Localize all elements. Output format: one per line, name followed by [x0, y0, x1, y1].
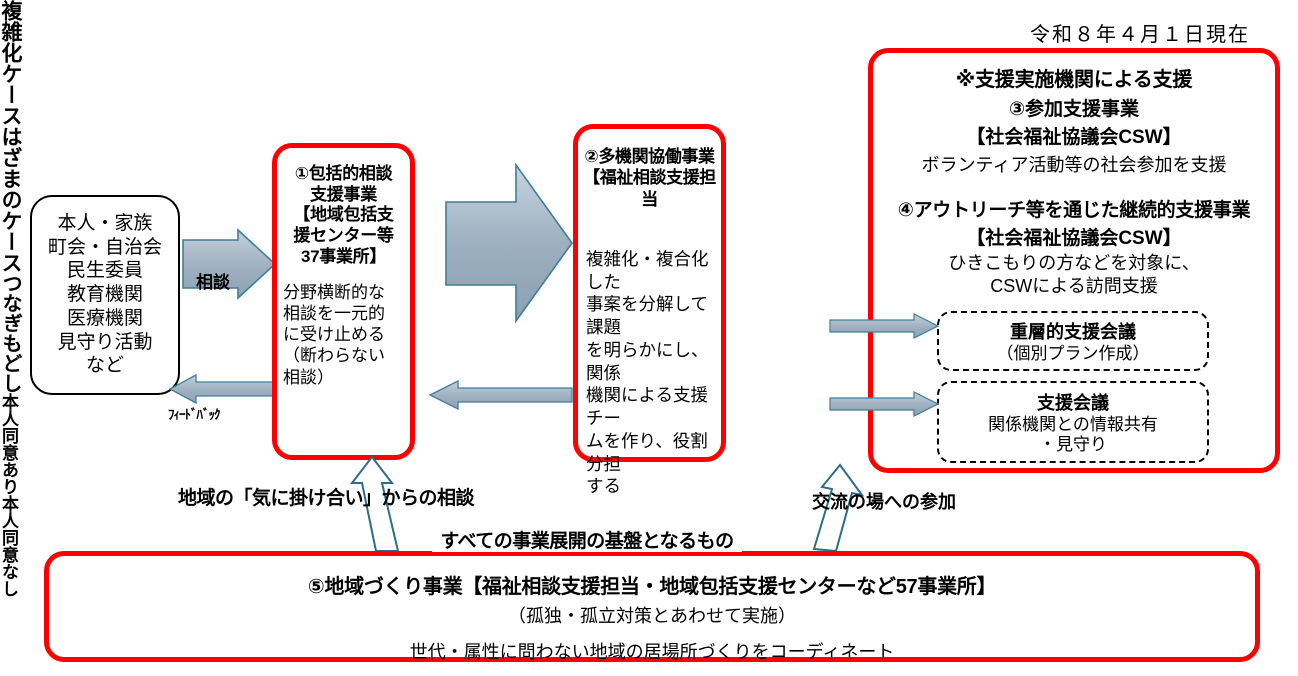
box3-item4-org: 【社会福祉協議会CSW】: [873, 223, 1275, 250]
exchange-participation-label: 交流の場への参加: [812, 488, 956, 514]
box-multi-agency-collaboration: ②多機関協働事業 【福祉相談支援担当 複雑化・複合化した 事案を分解して課題 を…: [573, 124, 726, 462]
box5-title: ⑤地域づくり事業【福祉相談支援担当・地域包括支援センターなど57事業所】: [49, 570, 1255, 599]
feedback-arrow: [168, 372, 276, 408]
date-note: 令和８年４月１日現在: [1000, 18, 1250, 47]
consent-no-arrow: [828, 390, 940, 418]
source-box: 本人・家族 町会・自治会 民生委員 教育機関 医療機関 見守り活動 など: [30, 195, 180, 395]
complex-case-arrow: [444, 163, 574, 323]
box2-title: ②多機関協働事業 【福祉相談支援担当: [580, 146, 719, 210]
box5-desc: 世代・属性に問わない地域の居場所づくりをコーディネート: [49, 638, 1255, 664]
box1-title: ①包括的相談 支援事業 【地域包括支 援センター等 37事業所】: [281, 164, 406, 268]
box-comprehensive-consultation: ①包括的相談 支援事業 【地域包括支 援センター等 37事業所】 分野横断的な …: [272, 143, 415, 460]
dash1-title: 重層的支援会議: [1010, 318, 1136, 344]
box3-heading: ※支援実施機関による支援: [873, 63, 1275, 92]
box5-sub: （孤独・孤立対策とあわせて実施）: [49, 602, 1255, 628]
box3-item3-org: 【社会福祉協議会CSW】: [873, 122, 1275, 149]
feedback-arrow-label: ﾌｨｰﾄﾞﾊﾞｯｸ: [168, 404, 220, 423]
box-support-meeting: 支援会議 関係機関との情報共有 ・見守り: [937, 381, 1209, 463]
dash2-title: 支援会議: [1037, 389, 1109, 415]
source-box-text: 本人・家族 町会・自治会 民生委員 教育機関 医療機関 見守り活動 など: [48, 212, 162, 378]
foundation-caption: すべての事業展開の基盤となるもの: [432, 526, 742, 552]
reconnect-arrow: [428, 378, 574, 412]
box3-item4-title: ④アウトリーチ等を通じた継続的支援事業: [873, 195, 1275, 222]
box2-body: 複雑化・複合化した 事案を分解して課題 を明らかにし、関係 機関による支援チー …: [586, 248, 713, 498]
box-community-building: ⑤地域づくり事業【福祉相談支援担当・地域包括支援センターなど57事業所】 （孤独…: [44, 551, 1260, 662]
consent-yes-arrow: [828, 312, 940, 340]
reconnect-label: つなぎもどし: [0, 273, 20, 393]
diagram-canvas: 令和８年４月１日現在 本人・家族 町会・自治会 民生委員 教育機関 医療機関 見…: [0, 0, 1298, 676]
box3-item3-desc: ボランティア活動等の社会参加を支援: [873, 151, 1275, 177]
consult-arrow-label: 相談: [196, 268, 230, 293]
box1-body: 分野横断的な 相談を一元的 に受け止める （断わらない 相談）: [283, 282, 404, 388]
box-layered-support-meeting: 重層的支援会議 （個別プラン作成）: [937, 311, 1209, 371]
box3-item4-desc: ひきこもりの方などを対象に、 CSWによる訪問支援: [873, 252, 1275, 298]
dash2-sub: 関係機関との情報共有 ・見守り: [988, 415, 1158, 456]
complex-case-label-1: 複雑化ケース: [0, 0, 21, 126]
complex-case-label-2: はざまのケース: [0, 126, 21, 273]
box3-item3-title: ③参加支援事業: [873, 94, 1275, 121]
dash1-sub: （個別プラン作成）: [997, 344, 1150, 364]
consent-yes-label: 本人同意あり: [0, 393, 17, 495]
consent-no-label: 本人同意なし: [0, 495, 17, 597]
community-consult-label: 地域の「気に掛け合い」からの相談: [178, 483, 474, 510]
